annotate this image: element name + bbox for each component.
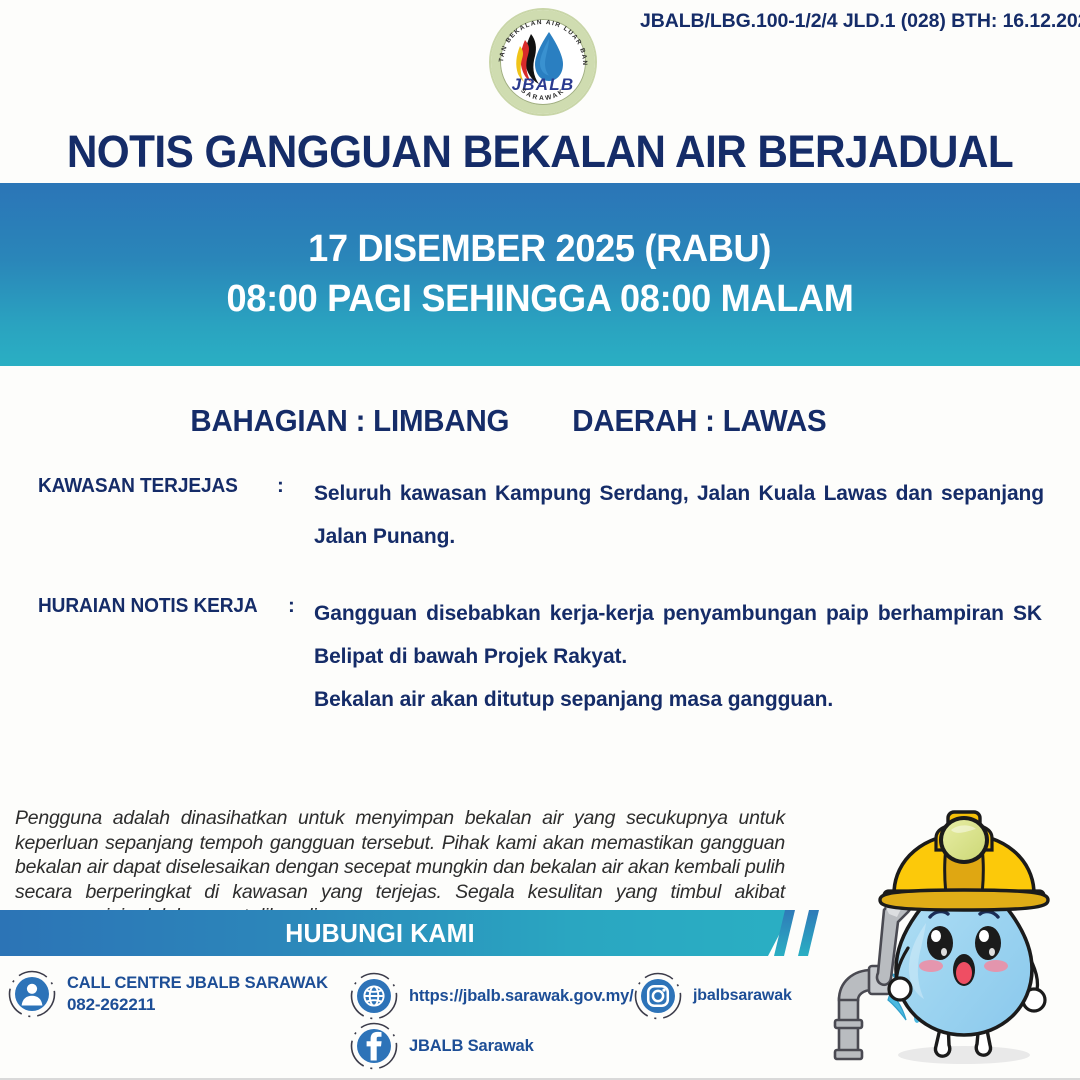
work-description-line-2: Belipat di bawah Projek Rakyat. [314, 635, 1042, 678]
contact-header: HUBUNGI KAMI [0, 910, 830, 956]
work-description-line-3: Bekalan air akan ditutup sepanjang masa … [314, 678, 1042, 721]
mascot-blush-right [984, 960, 1008, 972]
call-centre-phone: 082-262211 [67, 995, 155, 1014]
contact-item-facebook[interactable]: JBALB Sarawak [350, 1022, 534, 1070]
hard-hat-icon [880, 812, 1048, 910]
mascot-eye-left [927, 926, 953, 960]
facebook-handle[interactable]: JBALB Sarawak [409, 1035, 534, 1057]
work-description-value: Gangguan disebabkan kerja-kerja penyambu… [314, 592, 1042, 721]
person-icon [8, 970, 56, 1018]
work-description-line-1: Gangguan disebabkan kerja-kerja penyambu… [314, 592, 1042, 635]
call-centre-name: CALL CENTRE JBALB SARAWAK [67, 974, 328, 992]
schedule-date: 17 DISEMBER 2025 (RABU) [309, 226, 772, 274]
affected-area-line-2: Jalan Punang. [314, 515, 1044, 558]
work-description-label: HURAIAN NOTIS KERJA [38, 594, 258, 618]
website-url[interactable]: https://jbalb.sarawak.gov.my/ [409, 985, 634, 1007]
instagram-icon [634, 972, 682, 1020]
contact-item-instagram[interactable]: jbalbsarawak [634, 972, 792, 1020]
page-title: NOTIS GANGGUAN BEKALAN AIR BERJADUAL [32, 126, 1047, 178]
affected-area-line-1: Seluruh kawasan Kampung Serdang, Jalan K… [314, 472, 1044, 515]
contact-item-website[interactable]: https://jbalb.sarawak.gov.my/ [350, 972, 634, 1020]
affected-area-colon: : [277, 474, 284, 498]
affected-area-value: Seluruh kawasan Kampung Serdang, Jalan K… [314, 472, 1044, 558]
schedule-time: 08:00 PAGI SEHINGGA 08:00 MALAM [226, 276, 853, 324]
schedule-band: 17 DISEMBER 2025 (RABU) 08:00 PAGI SEHIN… [0, 183, 1080, 366]
jbalb-logo: JBALB JABATAN BEKALAN AIR LUAR BANDAR SA… [487, 6, 599, 118]
notice-poster: JBALB/LBG.100-1/2/4 JLD.1 (028) BTH: 16.… [0, 0, 1080, 1080]
instagram-handle[interactable]: jbalbsarawak [693, 985, 792, 1007]
globe-icon [350, 972, 398, 1020]
district-label: DAERAH : LAWAS [572, 403, 826, 439]
contact-item-call-centre[interactable]: CALL CENTRE JBALB SARAWAK 082-262211 [8, 970, 328, 1018]
reference-number: JBALB/LBG.100-1/2/4 JLD.1 (028) BTH: 16.… [640, 10, 1080, 33]
diagonal-slash-icon-2 [798, 910, 819, 956]
mascot-blush-left [919, 960, 943, 972]
work-description-colon: : [288, 594, 295, 618]
contact-title: HUBUNGI KAMI [15, 910, 745, 956]
facebook-icon [350, 1022, 398, 1070]
division-label: BAHAGIAN : LIMBANG [190, 403, 509, 439]
water-droplet-worker-mascot [822, 788, 1080, 1080]
mascot-eye-right [975, 926, 1001, 960]
affected-area-label: KAWASAN TERJEJAS [38, 474, 238, 498]
